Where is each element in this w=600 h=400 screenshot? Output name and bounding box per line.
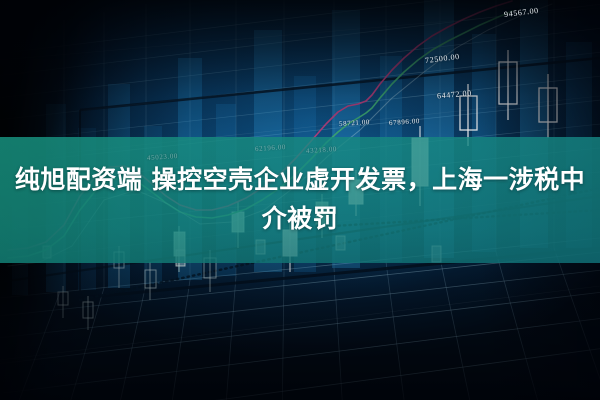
page-title: 纯旭配资端 操控空壳企业虚开发票，上海一涉税中介被罚 [0, 160, 600, 238]
screenshot-root: 94567.00 72500.00 64472.00 58721.00 6789… [0, 0, 600, 400]
